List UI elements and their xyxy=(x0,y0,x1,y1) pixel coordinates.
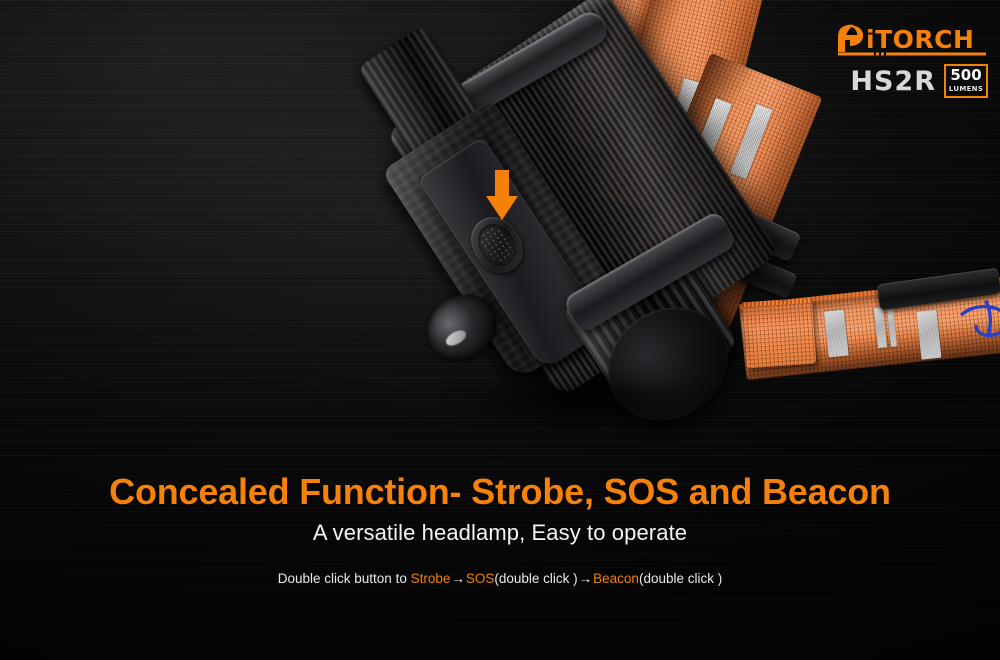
brand-logo-block: iTORCH HS2R 500 LUMENS xyxy=(828,22,988,98)
brand-logo: iTORCH xyxy=(828,22,988,56)
note-mode-strobe: Strobe xyxy=(411,571,451,586)
note-prefix: Double click button to xyxy=(278,571,411,586)
lumens-label: LUMENS xyxy=(948,85,984,94)
product-feature-banner: iTORCH HS2R 500 LUMENS Concealed Functio… xyxy=(0,0,1000,660)
flame-f-logo-icon: iTORCH xyxy=(836,22,988,56)
band-logo-glyph-icon xyxy=(955,294,1000,350)
band-logo-print xyxy=(955,294,1000,355)
note-mode-sos: SOS xyxy=(466,571,495,586)
lumens-value: 500 xyxy=(950,66,981,84)
model-name: HS2R xyxy=(850,68,936,95)
note-arrow-2: → xyxy=(578,571,594,586)
note-arrow-1: → xyxy=(450,571,466,586)
svg-text:iTORCH: iTORCH xyxy=(866,25,974,54)
note-beacon-suffix: (double click ) xyxy=(639,571,722,586)
lumens-badge: 500 LUMENS xyxy=(944,64,988,98)
down-arrow-icon xyxy=(484,170,520,222)
instruction-note: Double click button to Strobe→SOS(double… xyxy=(0,569,1000,589)
subheadline: A versatile headlamp, Easy to operate xyxy=(0,518,1000,548)
model-row: HS2R 500 LUMENS xyxy=(828,64,988,98)
caption-block: Concealed Function- Strobe, SOS and Beac… xyxy=(0,470,1000,589)
note-sos-suffix: (double click ) xyxy=(494,571,577,586)
product-shadow xyxy=(400,360,760,440)
headband-fold-tab xyxy=(742,298,816,369)
headline: Concealed Function- Strobe, SOS and Beac… xyxy=(0,470,1000,514)
note-mode-beacon: Beacon xyxy=(593,571,639,586)
